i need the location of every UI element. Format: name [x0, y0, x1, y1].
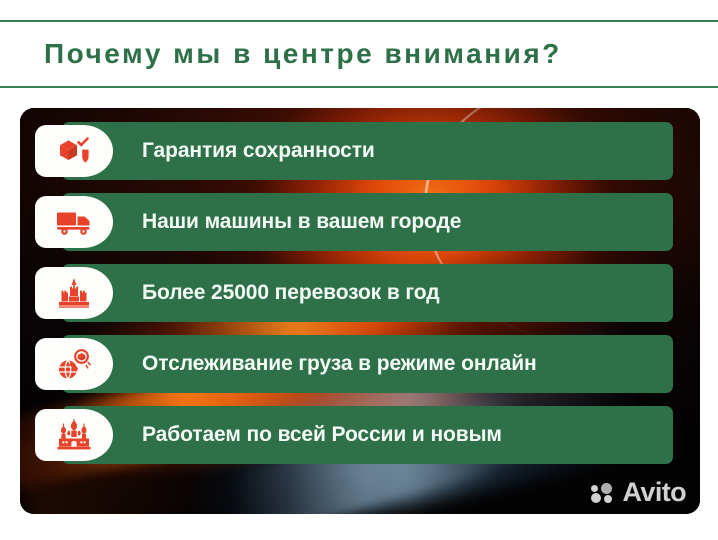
list-item[interactable]: Отслеживание груза в режиме онлайн — [20, 335, 700, 393]
feature-label: Работаем по всей России и новым — [142, 423, 502, 447]
feature-label: Гарантия сохранности — [142, 139, 375, 163]
page-title: Почему мы в центре внимания? — [44, 38, 562, 70]
avito-watermark: Avito — [591, 477, 687, 508]
list-item[interactable]: Наши машины в вашем городе — [20, 193, 700, 251]
avito-wordmark: Avito — [623, 477, 687, 508]
feature-bar: Наши машины в вашем городе — [62, 193, 673, 251]
saint-basil-cathedral-icon — [56, 419, 92, 451]
package-shield-check-icon — [57, 136, 91, 166]
feature-label: Наши машины в вашем городе — [142, 210, 461, 234]
kremlin-wall-icon — [57, 277, 91, 309]
list-item[interactable]: Гарантия сохранности — [20, 122, 700, 180]
feature-bar: Работаем по всей России и новым — [62, 406, 673, 464]
page-header: Почему мы в центре внимания? — [0, 20, 718, 88]
list-item[interactable]: Работаем по всей России и новым — [20, 406, 700, 464]
feature-icon-badge — [35, 338, 113, 390]
feature-icon-badge — [35, 267, 113, 319]
delivery-truck-icon — [56, 209, 92, 235]
feature-bar: Отслеживание груза в режиме онлайн — [62, 335, 673, 393]
feature-icon-badge — [35, 125, 113, 177]
feature-label: Более 25000 перевозок в год — [142, 281, 439, 305]
feature-icon-badge — [35, 409, 113, 461]
feature-bar: Гарантия сохранности — [62, 122, 673, 180]
feature-icon-badge — [35, 196, 113, 248]
feature-list: Гарантия сохранности — [20, 108, 700, 514]
feature-bar: Более 25000 перевозок в год — [62, 264, 673, 322]
globe-magnifier-package-icon — [57, 348, 91, 380]
list-item[interactable]: Более 25000 перевозок в год — [20, 264, 700, 322]
features-card: Гарантия сохранности — [20, 108, 700, 514]
avito-logo-icon — [591, 483, 617, 503]
feature-label: Отслеживание груза в режиме онлайн — [142, 352, 537, 376]
